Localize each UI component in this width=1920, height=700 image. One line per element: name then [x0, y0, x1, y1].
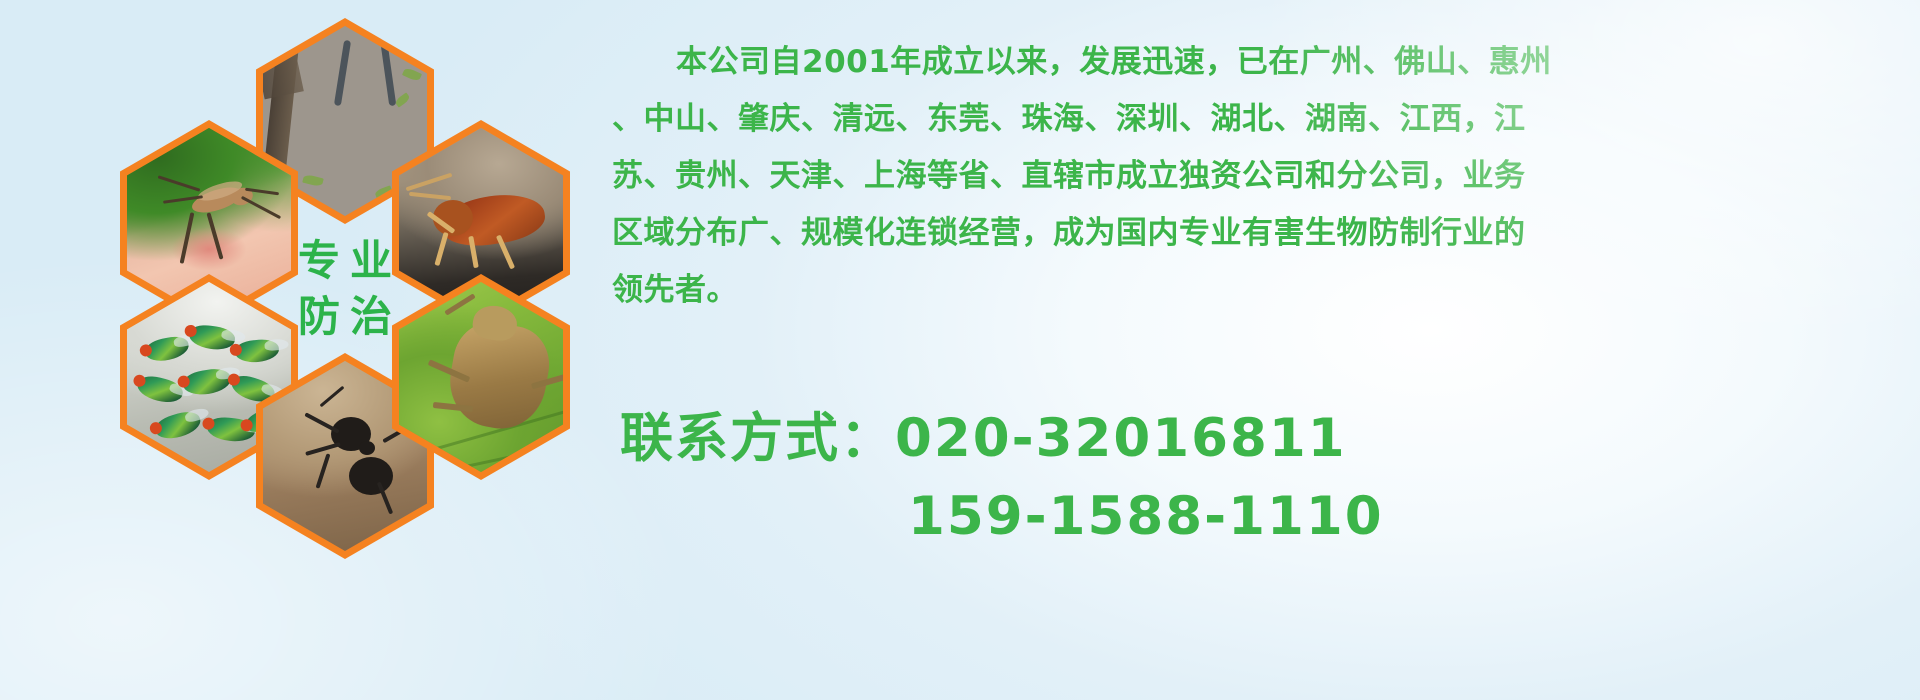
- intro-paragraph: 本公司自2001年成立以来，发展迅速，已在广州、佛山、惠州 、中山、肇庆、清远、…: [612, 34, 1882, 319]
- contact-block: 联系方式：020-32016811 159-1588-1110: [620, 400, 1880, 556]
- company-intro-block: 本公司自2001年成立以来，发展迅速，已在广州、佛山、惠州 、中山、肇庆、清远、…: [612, 34, 1882, 319]
- slogan-line-1: 专业: [288, 240, 402, 282]
- contact-secondary-line[interactable]: 159-1588-1110: [620, 478, 1880, 556]
- honeycomb-gallery: 专业 防治: [96, 8, 596, 558]
- intro-line-5: 领先者。: [612, 262, 1882, 319]
- intro-line-1: 本公司自2001年成立以来，发展迅速，已在广州、佛山、惠州: [612, 34, 1882, 91]
- intro-line-4: 区域分布广、规模化连锁经营，成为国内专业有害生物防制行业的: [612, 205, 1882, 262]
- intro-line-2: 、中山、肇庆、清远、东莞、珠海、深圳、湖北、湖南、江西，江: [612, 91, 1882, 148]
- phone-primary[interactable]: 020-32016811: [895, 408, 1347, 469]
- intro-line-3: 苏、贵州、天津、上海等省、直辖市成立独资公司和分公司，业务: [612, 148, 1882, 205]
- pest-control-banner: 专业 防治 本公司自2001年成立以来，发展迅速，已在广州、佛山、惠州 、中山、…: [0, 0, 1920, 700]
- phone-secondary[interactable]: 159-1588-1110: [908, 486, 1384, 547]
- contact-primary-line[interactable]: 联系方式：020-32016811: [620, 400, 1880, 478]
- slogan-line-2: 防治: [288, 296, 402, 338]
- contact-label: 联系方式：: [620, 408, 895, 469]
